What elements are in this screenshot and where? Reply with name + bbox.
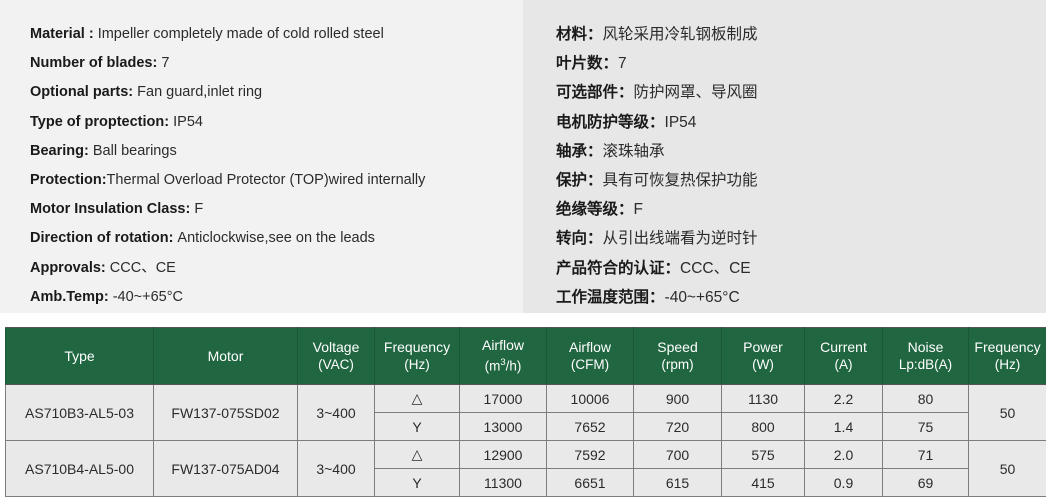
spec-separator: ： <box>618 84 634 101</box>
specification-area: Material : Impeller completely made of c… <box>0 0 1046 313</box>
spec-value: CCC、CE <box>680 260 751 277</box>
header-main-label: Type <box>64 348 94 364</box>
spec-key: 材料 <box>556 26 587 43</box>
spec-line: 保护：具有可恢复热保护功能 <box>556 166 1046 195</box>
airflow-m3h-cell: 17000 <box>460 385 547 413</box>
table-header-cell: Motor <box>154 328 298 385</box>
table-header-cell: Current(A) <box>805 328 883 385</box>
table-header-cell: NoiseLp:dB(A) <box>883 328 969 385</box>
spec-line: 材料：风轮采用冷轧钢板制成 <box>556 20 1046 49</box>
header-sub-label: (CFM) <box>547 356 633 374</box>
airflow-cfm-cell: 6651 <box>547 469 634 497</box>
noise-cell: 75 <box>883 413 969 441</box>
spec-line: 可选部件：防护网罩、导风圈 <box>556 78 1046 107</box>
power-cell: 1130 <box>722 385 805 413</box>
spec-line: 绝缘等级：F <box>556 195 1046 224</box>
spec-key: Number of blades <box>30 55 152 71</box>
spec-value: Impeller completely made of cold rolled … <box>98 26 384 42</box>
spec-key: Approvals <box>30 260 101 276</box>
spec-value: -40~+65°C <box>113 289 183 305</box>
spec-value: CCC、CE <box>110 260 176 276</box>
model-type-cell: AS710B4-AL5-00 <box>6 441 154 497</box>
voltage-cell: 3~400 <box>298 385 375 441</box>
spec-key: 产品符合的认证 <box>556 260 665 277</box>
table-row: AS710B3-AL5-03FW137-075SD023~400△1700010… <box>6 385 1046 413</box>
table-header-cell: Frequency(Hz) <box>375 328 460 385</box>
noise-cell: 71 <box>883 441 969 469</box>
spec-separator: : <box>128 84 137 100</box>
table-header: TypeMotorVoltage(VAC)Frequency(Hz)Airflo… <box>6 328 1046 385</box>
spec-key: 电机防护等级 <box>556 114 649 131</box>
spec-key: Bearing <box>30 143 84 159</box>
spec-value: Anticlockwise,see on the leads <box>177 230 374 246</box>
spec-value: -40~+65°C <box>665 289 740 306</box>
connection-type-cell: Y <box>375 469 460 497</box>
spec-line: Amb.Temp: -40~+65°C <box>30 283 523 312</box>
spec-key: Motor Insulation Class <box>30 201 186 217</box>
spec-line: Bearing: Ball bearings <box>30 137 523 166</box>
spec-separator: : <box>101 260 110 276</box>
spec-separator: ： <box>587 143 603 160</box>
airflow-m3h-cell: 11300 <box>460 469 547 497</box>
noise-cell: 69 <box>883 469 969 497</box>
spec-separator: ： <box>587 26 603 43</box>
header-main-label: Frequency <box>974 339 1040 355</box>
connection-type-cell: △ <box>375 385 460 413</box>
header-sub-label: (rpm) <box>634 356 721 374</box>
header-sub-label: (A) <box>805 356 882 374</box>
spec-value: 7 <box>161 55 169 71</box>
spec-separator: : <box>85 26 98 42</box>
table-row: AS710B4-AL5-00FW137-075AD043~400△1290075… <box>6 441 1046 469</box>
power-cell: 415 <box>722 469 805 497</box>
spec-line: Approvals: CCC、CE <box>30 254 523 283</box>
motor-model-cell: FW137-075AD04 <box>154 441 298 497</box>
spec-separator: ： <box>587 230 603 247</box>
current-cell: 1.4 <box>805 413 883 441</box>
table-header-cell: Power(W) <box>722 328 805 385</box>
spec-line: Direction of rotation: Anticlockwise,see… <box>30 224 523 253</box>
speed-cell: 720 <box>634 413 722 441</box>
spec-separator: ： <box>649 289 665 306</box>
noise-cell: 80 <box>883 385 969 413</box>
header-main-label: Current <box>820 339 867 355</box>
spec-key: 绝缘等级 <box>556 201 618 218</box>
spec-line: Protection:Thermal Overload Protector (T… <box>30 166 523 195</box>
spec-key: Material <box>30 26 85 42</box>
header-main-label: Speed <box>657 339 697 355</box>
speed-cell: 615 <box>634 469 722 497</box>
table-header-cell: Frequency(Hz) <box>969 328 1046 385</box>
header-sub-label: (Hz) <box>375 356 459 374</box>
voltage-cell: 3~400 <box>298 441 375 497</box>
spec-line: 转向：从引出线端看为逆时针 <box>556 224 1046 253</box>
spec-separator: ： <box>587 172 603 189</box>
spec-separator: : <box>84 143 93 159</box>
header-main-label: Motor <box>208 348 244 364</box>
spec-key: Optional parts <box>30 84 128 100</box>
current-cell: 0.9 <box>805 469 883 497</box>
spec-panel-english: Material : Impeller completely made of c… <box>0 0 523 313</box>
table-header-cell: Airflow(m3/h) <box>460 328 547 385</box>
spec-value: F <box>634 201 643 218</box>
header-main-label: Noise <box>908 339 944 355</box>
spec-value: 滚珠轴承 <box>603 143 665 160</box>
spec-key: Protection <box>30 172 102 188</box>
spec-value: 具有可恢复热保护功能 <box>603 172 758 189</box>
power-cell: 575 <box>722 441 805 469</box>
spec-line: 轴承：滚珠轴承 <box>556 137 1046 166</box>
spec-line: Number of blades: 7 <box>30 49 523 78</box>
speed-cell: 900 <box>634 385 722 413</box>
spec-value: Thermal Overload Protector (TOP)wired in… <box>107 172 426 188</box>
table-header-cell: Airflow(CFM) <box>547 328 634 385</box>
header-sub-label: (VAC) <box>298 356 374 374</box>
spec-panel-chinese: 材料：风轮采用冷轧钢板制成叶片数：7可选部件：防护网罩、导风圈电机防护等级：IP… <box>523 0 1046 313</box>
airflow-m3h-cell: 13000 <box>460 413 547 441</box>
connection-type-cell: △ <box>375 441 460 469</box>
header-main-label: Airflow <box>482 337 524 353</box>
spec-separator: : <box>152 55 161 71</box>
spec-line: Material : Impeller completely made of c… <box>30 20 523 49</box>
spec-line: 产品符合的认证：CCC、CE <box>556 254 1046 283</box>
spec-key: 叶片数 <box>556 55 603 72</box>
spec-key: 轴承 <box>556 143 587 160</box>
header-main-label: Voltage <box>313 339 360 355</box>
spec-key: 可选部件 <box>556 84 618 101</box>
airflow-cfm-cell: 10006 <box>547 385 634 413</box>
header-sub-label: (m3/h) <box>460 354 546 376</box>
table-header-cell: Type <box>6 328 154 385</box>
airflow-m3h-cell: 12900 <box>460 441 547 469</box>
spec-value: Fan guard,inlet ring <box>137 84 262 100</box>
spec-key: Direction of rotation <box>30 230 169 246</box>
power-cell: 800 <box>722 413 805 441</box>
frequency-hz-cell: 50 <box>969 385 1046 441</box>
speed-cell: 700 <box>634 441 722 469</box>
spec-value: F <box>194 201 203 217</box>
model-type-cell: AS710B3-AL5-03 <box>6 385 154 441</box>
table-body: AS710B3-AL5-03FW137-075SD023~400△1700010… <box>6 385 1046 497</box>
current-cell: 2.2 <box>805 385 883 413</box>
spec-separator: ： <box>603 55 619 72</box>
spec-key: 保护 <box>556 172 587 189</box>
spec-value: 7 <box>618 55 627 72</box>
spec-separator: : <box>164 114 173 130</box>
header-sub-label: (Hz) <box>969 356 1046 374</box>
header-main-label: Airflow <box>569 339 611 355</box>
header-main-label: Frequency <box>384 339 450 355</box>
current-cell: 2.0 <box>805 441 883 469</box>
table-header-row: TypeMotorVoltage(VAC)Frequency(Hz)Airflo… <box>6 328 1046 385</box>
spec-separator: : <box>104 289 113 305</box>
spec-value: 风轮采用冷轧钢板制成 <box>603 26 758 43</box>
spec-value: 防护网罩、导风圈 <box>634 84 758 101</box>
table-header-cell: Voltage(VAC) <box>298 328 375 385</box>
spec-line: 电机防护等级：IP54 <box>556 108 1046 137</box>
spec-line: Type of proptection: IP54 <box>30 108 523 137</box>
airflow-cfm-cell: 7652 <box>547 413 634 441</box>
spec-value: 从引出线端看为逆时针 <box>603 230 758 247</box>
spec-key: 转向 <box>556 230 587 247</box>
airflow-cfm-cell: 7592 <box>547 441 634 469</box>
spec-line: Motor Insulation Class: F <box>30 195 523 224</box>
motor-model-cell: FW137-075SD02 <box>154 385 298 441</box>
product-spec-page: Material : Impeller completely made of c… <box>0 0 1046 499</box>
spec-line: 工作温度范围：-40~+65°C <box>556 283 1046 312</box>
spec-value: IP54 <box>665 114 697 131</box>
spec-value: IP54 <box>173 114 203 130</box>
performance-table-wrapper: TypeMotorVoltage(VAC)Frequency(Hz)Airflo… <box>5 327 1041 497</box>
header-sub-label: (W) <box>722 356 804 374</box>
spec-separator: ： <box>649 114 665 131</box>
spec-value: Ball bearings <box>93 143 177 159</box>
spec-key: 工作温度范围 <box>556 289 649 306</box>
spec-line: Optional parts: Fan guard,inlet ring <box>30 78 523 107</box>
spec-line: 叶片数：7 <box>556 49 1046 78</box>
spec-key: Type of proptection <box>30 114 164 130</box>
connection-type-cell: Y <box>375 413 460 441</box>
table-header-cell: Speed(rpm) <box>634 328 722 385</box>
spec-key: Amb.Temp <box>30 289 104 305</box>
header-main-label: Power <box>743 339 783 355</box>
frequency-hz-cell: 50 <box>969 441 1046 497</box>
spec-separator: ： <box>665 260 681 277</box>
performance-table: TypeMotorVoltage(VAC)Frequency(Hz)Airflo… <box>5 327 1046 497</box>
header-sub-label: Lp:dB(A) <box>883 356 968 374</box>
spec-separator: ： <box>618 201 634 218</box>
